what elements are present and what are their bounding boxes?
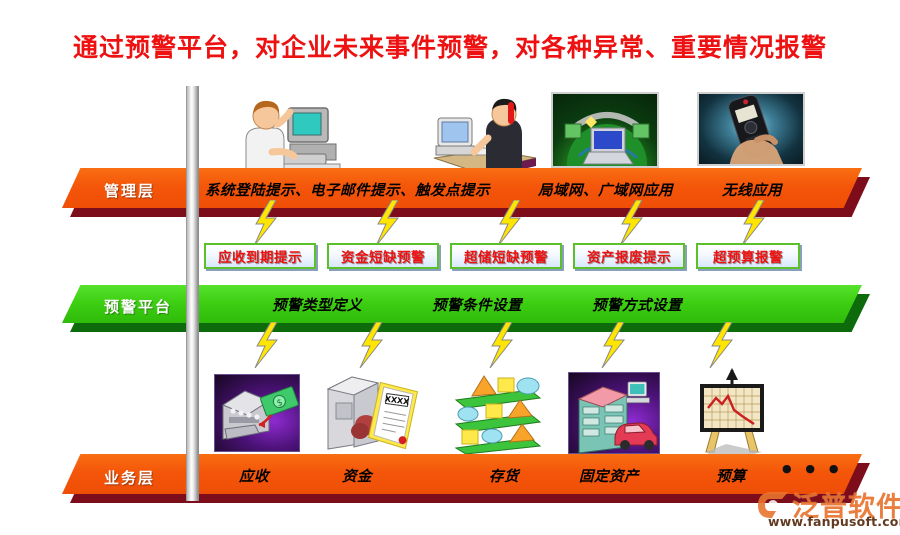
lightning-bolt-icon: [488, 322, 514, 368]
business-item-1: 资金: [342, 465, 372, 486]
lightning-bolt-icon: [358, 322, 384, 368]
inventory-shelves-icon: [452, 372, 544, 454]
lightning-bolt-icon: [600, 322, 626, 368]
page-title: 通过预警平台，对企业未来事件预警，对各种异常、重要情况报警: [0, 28, 900, 64]
business-item-4: 预算: [716, 465, 746, 486]
business-layer-label: 业务层: [104, 467, 155, 488]
watermark-url: www.fanpusoft.com: [768, 514, 900, 529]
alert-button-label: 超预算报警: [713, 246, 783, 266]
platform-item-0: 预警类型定义: [272, 294, 362, 315]
lightning-bolt-icon: [618, 200, 644, 246]
business-item-3: 固定资产: [579, 465, 639, 486]
business-item-0: 应收: [239, 465, 269, 486]
management-layer-label: 管理层: [104, 180, 155, 201]
platform-item-1: 预警条件设置: [432, 294, 522, 315]
building-computer-car-icon: [568, 372, 660, 454]
global-network-laptop-photo: [551, 92, 659, 168]
easel-chart-icon: [686, 366, 778, 456]
vertical-pole: [186, 86, 199, 501]
lightning-bolt-icon: [708, 322, 734, 368]
person-on-phone-at-desk-icon: [420, 92, 538, 180]
alert-button-fund-shortage[interactable]: 资金短缺预警: [327, 243, 439, 269]
management-item-1: 局域网、广域网应用: [538, 179, 673, 200]
watermark: 泛普软件 www.fanpusoft.com: [756, 487, 900, 533]
lightning-bolt-icon: [253, 322, 279, 368]
alert-button-receivable-due[interactable]: 应收到期提示: [204, 243, 316, 269]
alert-button-asset-scrap[interactable]: 资产报废提示: [573, 243, 685, 269]
cash-register-money-icon: $: [214, 374, 300, 452]
business-item-2: 存货: [489, 465, 519, 486]
alert-button-label: 超储短缺预警: [464, 246, 548, 266]
person-at-computer-icon: [228, 88, 356, 180]
alert-button-over-budget[interactable]: 超预算报警: [696, 243, 800, 269]
business-items-ellipsis: ● ● ●: [782, 462, 843, 475]
management-item-0: 系统登陆提示、电子邮件提示、触发点提示: [205, 179, 490, 200]
alert-button-label: 应收到期提示: [218, 246, 302, 266]
lightning-bolt-icon: [374, 200, 400, 246]
lightning-bolt-icon: [740, 200, 766, 246]
mobile-phone-in-hand-photo: [697, 92, 805, 166]
diagram-canvas: 通过预警平台，对企业未来事件预警，对各种异常、重要情况报警: [0, 0, 900, 535]
lightning-bolt-icon: [496, 200, 522, 246]
management-item-2: 无线应用: [722, 179, 782, 200]
alert-button-label: 资产报废提示: [587, 246, 671, 266]
safe-vault-document-icon: XXXX: [322, 369, 422, 455]
lightning-bolt-icon: [252, 200, 278, 246]
alert-button-overstock-shortage[interactable]: 超储短缺预警: [450, 243, 562, 269]
warning-platform-label: 预警平台: [104, 296, 172, 317]
platform-item-2: 预警方式设置: [592, 294, 682, 315]
alert-button-label: 资金短缺预警: [341, 246, 425, 266]
